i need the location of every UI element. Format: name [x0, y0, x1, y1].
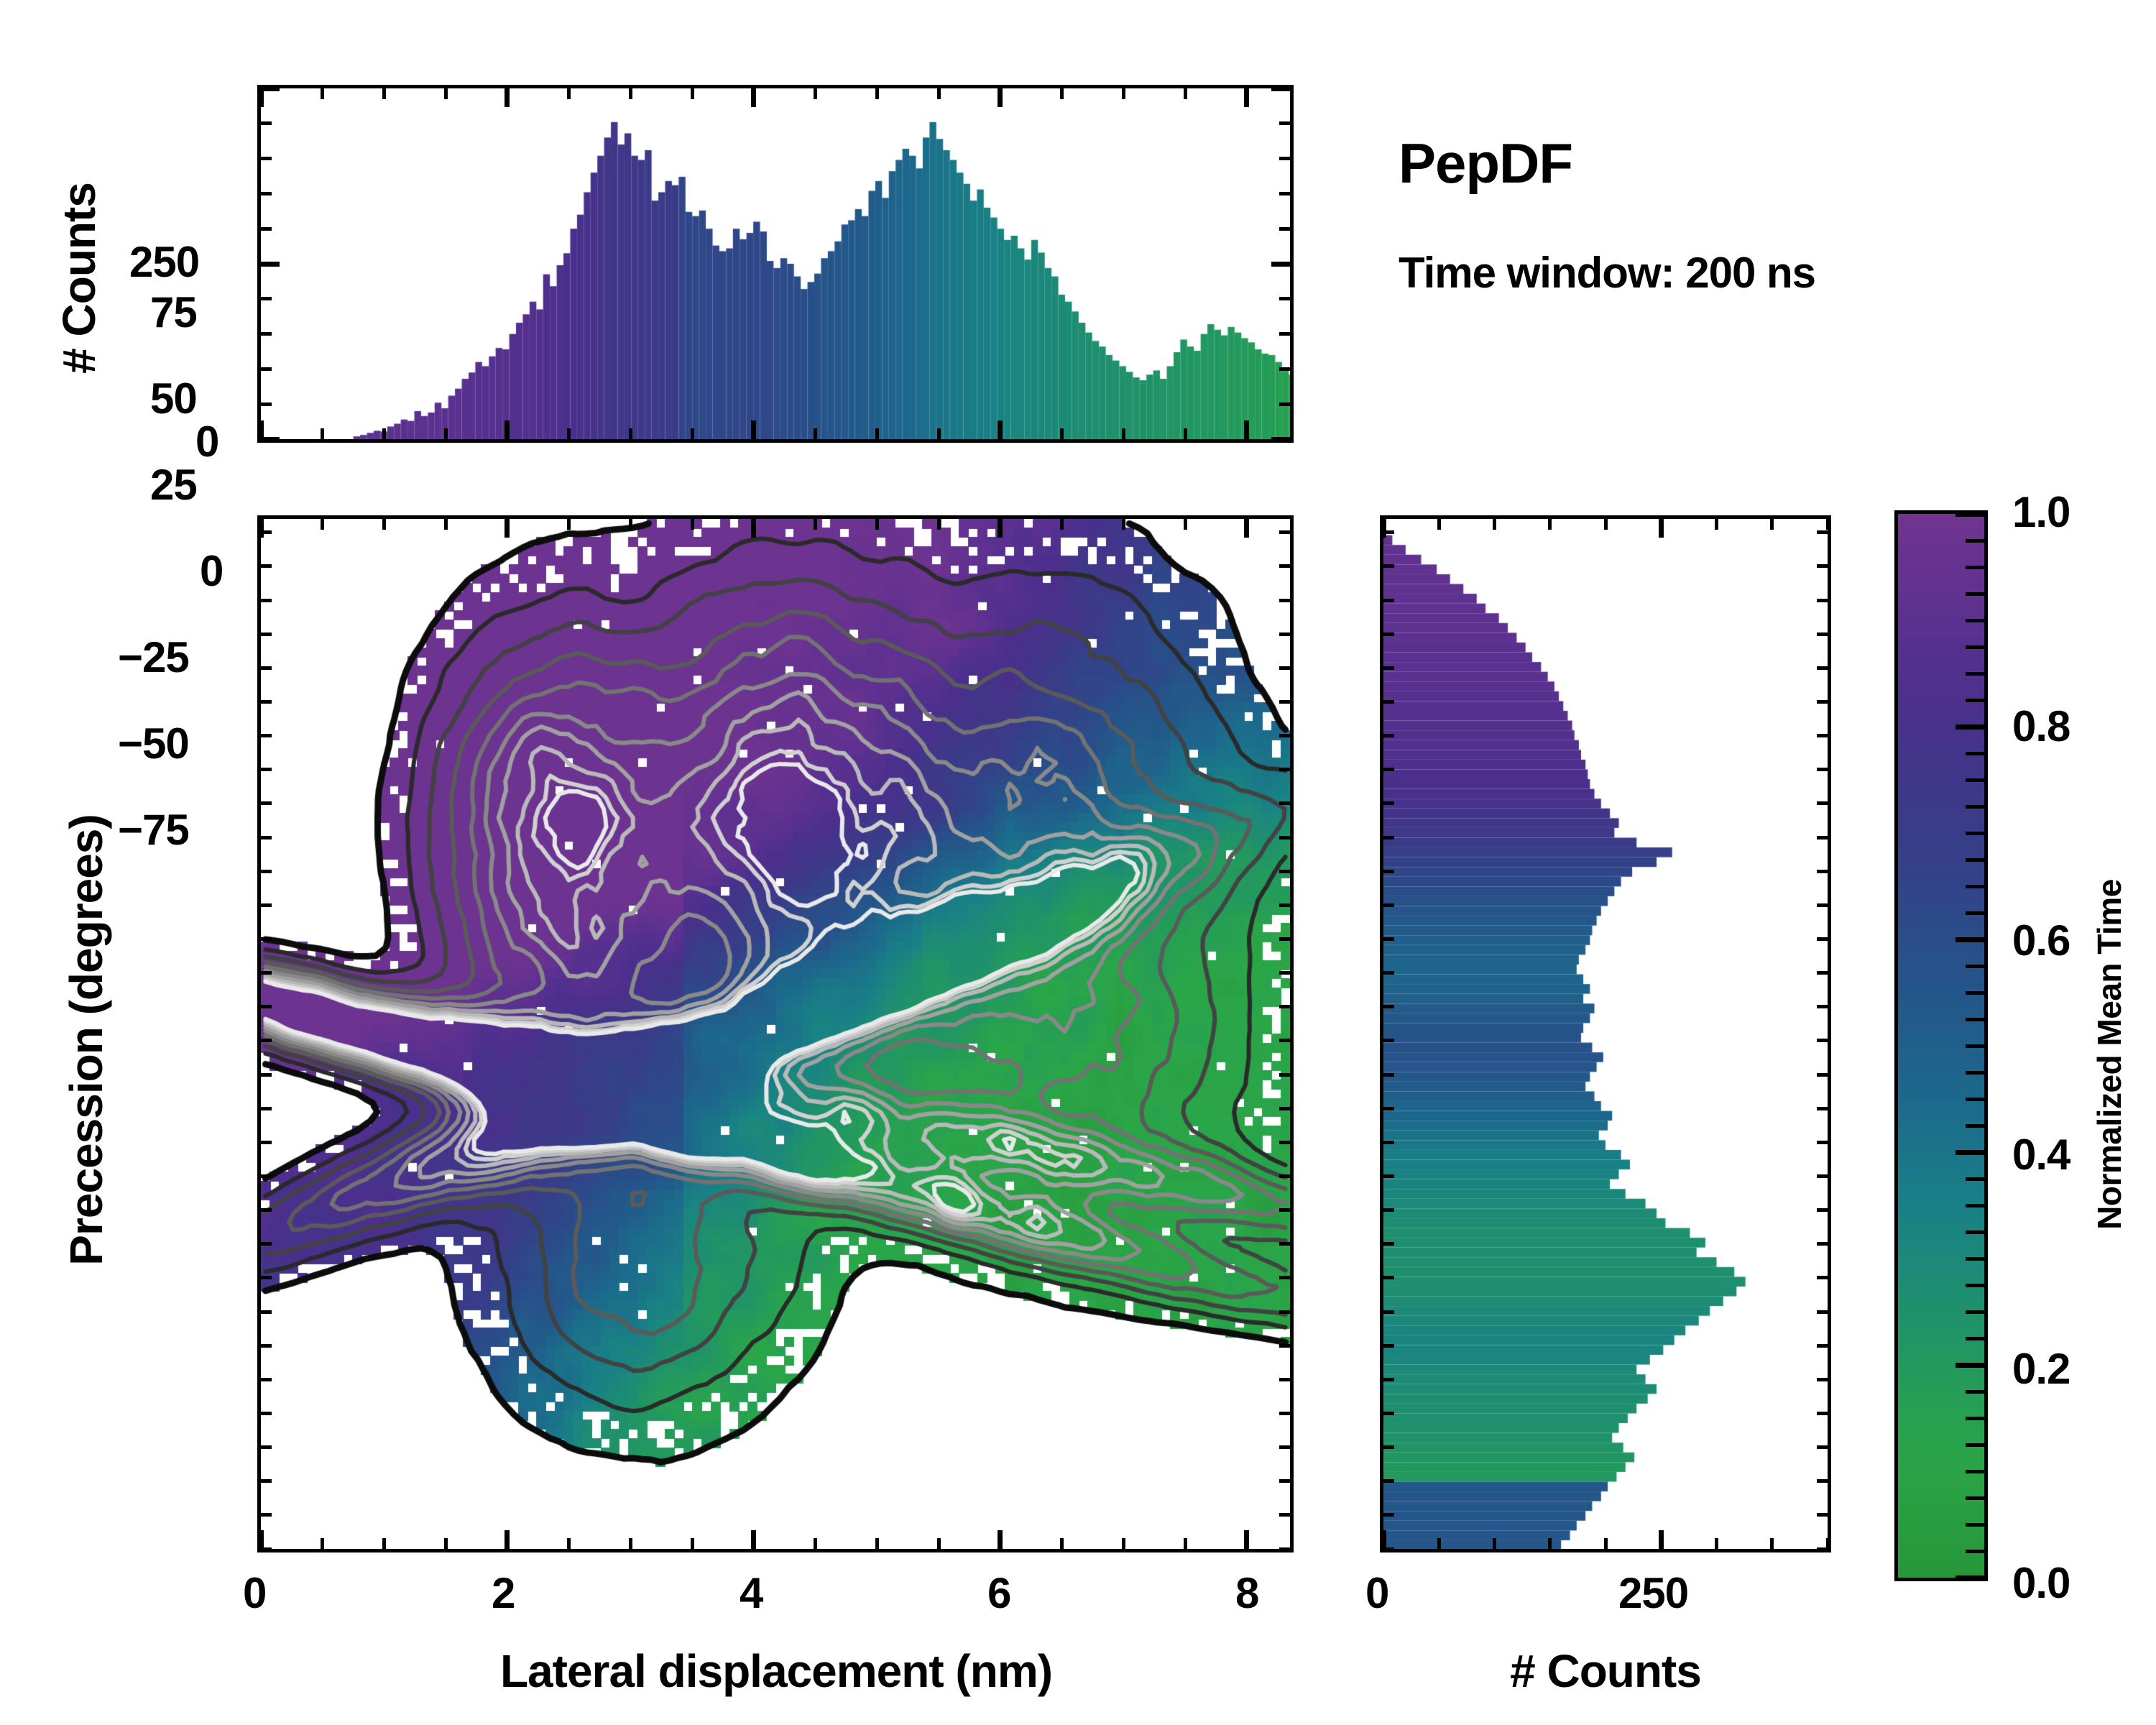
axis-tick: [1548, 1538, 1552, 1549]
axis-tick: [1381, 1530, 1386, 1549]
main-ytick-m50: −50: [118, 719, 189, 768]
axis-tick: [937, 519, 941, 530]
axis-tick: [261, 86, 280, 91]
axis-tick: [261, 121, 272, 125]
axis-tick: [691, 1538, 694, 1549]
axis-tick: [998, 1530, 1003, 1549]
axis-tick: [1955, 724, 1984, 730]
axis-tick: [1383, 1479, 1394, 1483]
axis-tick: [937, 1538, 941, 1549]
cbar-tick-0-8: 0.8: [2012, 701, 2070, 751]
axis-tick: [1817, 666, 1828, 670]
axis-tick: [1279, 157, 1290, 160]
axis-tick: [1279, 297, 1290, 300]
axis-tick: [567, 1538, 571, 1549]
axis-tick: [875, 1538, 879, 1549]
right-xtick-250: 250: [1618, 1568, 1688, 1618]
axis-tick: [1279, 1242, 1290, 1246]
right-panel-xlabel: # Counts: [1380, 1644, 1831, 1698]
axis-tick: [875, 88, 879, 99]
axis-tick: [1966, 699, 1984, 702]
axis-tick: [998, 88, 1003, 107]
figure-root: 0 250 # Counts PepDF Time window: 200 ns…: [0, 0, 2156, 1725]
axis-tick: [1817, 1310, 1828, 1314]
page-title: PepDF: [1399, 131, 1572, 196]
axis-tick: [1817, 1276, 1828, 1279]
axis-tick: [1966, 1204, 1984, 1207]
axis-tick: [1955, 1575, 1984, 1581]
axis-tick: [1279, 1039, 1290, 1042]
right-histogram-panel: [1380, 515, 1831, 1552]
axis-tick: [1279, 227, 1290, 231]
axis-tick: [1383, 1174, 1394, 1178]
axis-tick: [1383, 768, 1394, 771]
axis-tick: [1060, 519, 1064, 530]
axis-tick: [1817, 564, 1828, 568]
axis-tick: [1279, 1107, 1290, 1110]
axis-tick: [1966, 619, 1984, 622]
axis-tick: [1279, 1073, 1290, 1077]
axis-tick: [444, 519, 448, 530]
axis-tick: [1383, 1310, 1394, 1314]
axis-tick: [1279, 1412, 1290, 1415]
axis-tick: [1383, 1107, 1394, 1110]
cbar-tick-0-4: 0.4: [2012, 1130, 2070, 1179]
axis-tick: [1817, 870, 1828, 873]
axis-tick: [567, 428, 571, 439]
axis-tick: [261, 1242, 272, 1246]
axis-tick: [1966, 1071, 1984, 1075]
axis-tick: [1279, 666, 1290, 670]
top-ytick-0: 0: [195, 417, 218, 466]
axis-tick: [1817, 1005, 1828, 1008]
axis-tick: [1966, 858, 1984, 862]
axis-tick: [1966, 1523, 1984, 1527]
axis-tick: [1122, 88, 1125, 99]
axis-tick: [261, 1174, 272, 1178]
axis-tick: [751, 88, 756, 107]
axis-tick: [259, 88, 264, 107]
axis-tick: [1279, 332, 1290, 336]
axis-tick: [1383, 1208, 1394, 1212]
axis-tick: [1966, 778, 1984, 782]
axis-tick: [261, 1445, 272, 1449]
axis-tick: [261, 192, 272, 195]
axis-tick: [261, 1513, 272, 1517]
axis-tick: [1770, 1538, 1774, 1549]
axis-tick: [1966, 1337, 1984, 1340]
axis-tick: [1279, 903, 1290, 907]
axis-tick: [1817, 1513, 1828, 1517]
axis-tick: [1966, 1044, 1984, 1048]
axis-tick: [1184, 1538, 1187, 1549]
axis-tick: [1279, 870, 1290, 873]
axis-tick: [751, 1530, 756, 1549]
axis-tick: [259, 519, 264, 538]
axis-tick: [1817, 1208, 1828, 1212]
axis-tick: [261, 971, 272, 975]
axis-tick: [751, 519, 756, 538]
axis-tick: [1383, 1378, 1394, 1381]
axis-tick: [1817, 836, 1828, 839]
axis-tick: [261, 801, 272, 805]
main-xlabel: Lateral displacement (nm): [258, 1644, 1294, 1698]
axis-tick: [1060, 428, 1064, 439]
axis-tick: [814, 1538, 817, 1549]
right-histogram-canvas: [1383, 519, 1828, 1549]
axis-tick: [1383, 1412, 1394, 1415]
axis-tick: [1659, 519, 1664, 538]
axis-tick: [1817, 801, 1828, 805]
axis-tick: [261, 1378, 272, 1381]
axis-tick: [1715, 519, 1718, 530]
axis-tick: [1966, 885, 1984, 888]
axis-tick: [1817, 1242, 1828, 1246]
axis-tick: [261, 836, 272, 839]
axis-tick: [505, 420, 510, 439]
axis-tick: [1383, 836, 1394, 839]
axis-tick: [1383, 1141, 1394, 1144]
axis-tick: [1383, 870, 1394, 873]
axis-tick: [1279, 937, 1290, 941]
axis-tick: [1279, 1174, 1290, 1178]
axis-tick: [261, 157, 272, 160]
cbar-tick-0-2: 0.2: [2012, 1344, 2070, 1394]
axis-tick: [1244, 519, 1249, 538]
axis-tick: [1966, 1177, 1984, 1181]
axis-tick: [1966, 1417, 1984, 1420]
axis-tick: [1383, 666, 1394, 670]
axis-tick: [1279, 1547, 1290, 1551]
axis-tick: [259, 1530, 264, 1549]
axis-tick: [1966, 1230, 1984, 1234]
axis-tick: [875, 428, 879, 439]
axis-tick: [1955, 937, 1984, 942]
axis-tick: [444, 428, 448, 439]
axis-tick: [1383, 700, 1394, 704]
axis-tick: [1966, 1550, 1984, 1553]
axis-tick: [1966, 1018, 1984, 1021]
axis-tick: [261, 734, 272, 737]
axis-tick: [1817, 1141, 1828, 1144]
axis-tick: [1383, 1242, 1394, 1246]
axis-tick: [1383, 971, 1394, 975]
axis-tick: [1279, 1378, 1290, 1381]
axis-tick: [998, 420, 1003, 439]
axis-tick: [261, 1276, 272, 1279]
axis-tick: [1966, 1496, 1984, 1500]
top-panel-ylabel: # Counts: [52, 142, 106, 415]
axis-tick: [567, 519, 571, 530]
main-ytick-50: 50: [150, 374, 197, 423]
axis-tick: [261, 530, 272, 534]
axis-tick: [1383, 1039, 1394, 1042]
axis-tick: [814, 519, 817, 530]
axis-tick: [937, 428, 941, 439]
axis-tick: [1604, 1538, 1608, 1549]
axis-tick: [1271, 262, 1290, 267]
axis-tick: [1817, 1039, 1828, 1042]
axis-tick: [1279, 530, 1290, 534]
axis-tick: [1279, 734, 1290, 737]
axis-tick: [1966, 911, 1984, 915]
main-xtick-2: 2: [492, 1568, 515, 1618]
axis-tick: [1383, 734, 1394, 737]
main-xtick-6: 6: [987, 1568, 1010, 1618]
axis-tick: [629, 428, 632, 439]
axis-tick: [321, 519, 324, 530]
axis-tick: [1279, 1208, 1290, 1212]
axis-tick: [261, 700, 272, 704]
axis-tick: [1279, 367, 1290, 371]
axis-tick: [1817, 599, 1828, 602]
axis-tick: [1122, 428, 1125, 439]
main-ytick-m75: −75: [118, 805, 189, 855]
main-ytick-75: 75: [150, 287, 197, 337]
axis-tick: [1383, 1276, 1394, 1279]
axis-tick: [261, 1107, 272, 1110]
axis-tick: [1383, 1445, 1394, 1449]
axis-tick: [1383, 564, 1394, 568]
axis-tick: [1244, 420, 1249, 439]
axis-tick: [1817, 1107, 1828, 1110]
heatmap-canvas: [261, 519, 1290, 1549]
axis-tick: [1279, 836, 1290, 839]
axis-tick: [1279, 1276, 1290, 1279]
axis-tick: [261, 227, 272, 231]
axis-tick: [1817, 1344, 1828, 1348]
axis-tick: [691, 428, 694, 439]
axis-tick: [1966, 592, 1984, 596]
axis-tick: [1383, 801, 1394, 805]
axis-tick: [1817, 903, 1828, 907]
axis-tick: [261, 903, 272, 907]
axis-tick: [1966, 1470, 1984, 1473]
axis-tick: [1122, 519, 1125, 530]
axis-tick: [1966, 832, 1984, 835]
axis-tick: [261, 870, 272, 873]
axis-tick: [1817, 530, 1828, 534]
axis-tick: [1966, 991, 1984, 995]
axis-tick: [261, 1005, 272, 1008]
axis-tick: [1493, 519, 1496, 530]
axis-tick: [444, 1538, 448, 1549]
axis-tick: [1817, 937, 1828, 941]
axis-tick: [1659, 1530, 1664, 1549]
axis-tick: [1279, 632, 1290, 636]
axis-tick: [261, 768, 272, 771]
axis-tick: [1279, 700, 1290, 704]
axis-tick: [1279, 1310, 1290, 1314]
axis-tick: [1817, 1445, 1828, 1449]
axis-tick: [505, 1530, 510, 1549]
axis-tick: [1279, 1005, 1290, 1008]
axis-tick: [1955, 1150, 1984, 1155]
axis-tick: [814, 428, 817, 439]
axis-tick: [261, 1141, 272, 1144]
axis-tick: [1383, 1005, 1394, 1008]
axis-tick: [261, 599, 272, 602]
axis-tick: [1955, 1363, 1984, 1368]
axis-tick: [1966, 566, 1984, 569]
axis-tick: [261, 632, 272, 636]
axis-tick: [1279, 768, 1290, 771]
axis-tick: [1383, 599, 1394, 602]
axis-tick: [1279, 599, 1290, 602]
axis-tick: [1715, 1538, 1718, 1549]
axis-tick: [1966, 1124, 1984, 1128]
axis-tick: [1817, 1378, 1828, 1381]
axis-tick: [444, 88, 448, 99]
axis-tick: [382, 519, 386, 530]
axis-tick: [1966, 1390, 1984, 1394]
axis-tick: [1966, 539, 1984, 543]
cbar-tick-0-0: 0.0: [2012, 1558, 2070, 1608]
axis-tick: [1966, 1098, 1984, 1101]
top-histogram-panel: [257, 85, 1294, 443]
axis-tick: [1244, 88, 1249, 107]
axis-tick: [1060, 88, 1064, 99]
axis-tick: [1817, 971, 1828, 975]
axis-tick: [1817, 1547, 1828, 1551]
main-xtick-4: 4: [740, 1568, 763, 1618]
axis-tick: [1279, 801, 1290, 805]
axis-tick: [1383, 1547, 1394, 1551]
axis-tick: [691, 519, 694, 530]
axis-tick: [382, 428, 386, 439]
colorbar-label: Normalized Mean Time: [2090, 519, 2129, 1590]
axis-tick: [1279, 121, 1290, 125]
axis-tick: [382, 88, 386, 99]
axis-tick: [751, 420, 756, 439]
main-ytick-0: 0: [200, 546, 223, 596]
axis-tick: [1966, 1257, 1984, 1261]
axis-tick: [1279, 1141, 1290, 1144]
axis-tick: [1437, 519, 1441, 530]
axis-tick: [505, 88, 510, 107]
axis-tick: [1966, 1443, 1984, 1447]
axis-tick: [1817, 734, 1828, 737]
axis-tick: [1966, 805, 1984, 809]
axis-tick: [1279, 564, 1290, 568]
axis-tick: [261, 367, 272, 371]
axis-tick: [1383, 530, 1394, 534]
main-xtick-0: 0: [243, 1568, 266, 1618]
axis-tick: [1184, 428, 1187, 439]
axis-tick: [1604, 519, 1608, 530]
axis-tick: [1966, 752, 1984, 755]
axis-tick: [261, 1412, 272, 1415]
axis-tick: [629, 88, 632, 99]
axis-tick: [1817, 700, 1828, 704]
axis-tick: [261, 1310, 272, 1314]
axis-tick: [1966, 965, 1984, 968]
axis-tick: [1966, 1310, 1984, 1314]
axis-tick: [1244, 1530, 1249, 1549]
axis-tick: [1060, 1538, 1064, 1549]
axis-tick: [875, 519, 879, 530]
axis-tick: [321, 428, 324, 439]
axis-tick: [1383, 937, 1394, 941]
axis-tick: [261, 564, 272, 568]
axis-tick: [321, 88, 324, 99]
axis-tick: [1966, 672, 1984, 676]
axis-tick: [629, 1538, 632, 1549]
axis-tick: [1271, 437, 1290, 442]
axis-tick: [1383, 1513, 1394, 1517]
axis-tick: [1817, 632, 1828, 636]
axis-tick: [382, 1538, 386, 1549]
axis-tick: [814, 88, 817, 99]
axis-tick: [1437, 1538, 1441, 1549]
cbar-tick-0-6: 0.6: [2012, 916, 2070, 965]
axis-tick: [261, 1547, 272, 1551]
main-ytick-25: 25: [150, 460, 197, 510]
axis-tick: [261, 1208, 272, 1212]
axis-tick: [1817, 1412, 1828, 1415]
axis-tick: [998, 519, 1003, 538]
axis-tick: [261, 666, 272, 670]
axis-tick: [1279, 1513, 1290, 1517]
top-histogram-canvas: [261, 88, 1290, 439]
axis-tick: [321, 1538, 324, 1549]
axis-tick: [1184, 519, 1187, 530]
axis-tick: [1383, 903, 1394, 907]
axis-tick: [1383, 1344, 1394, 1348]
axis-tick: [1279, 1445, 1290, 1449]
main-ytick-m25: −25: [118, 632, 189, 682]
axis-tick: [1279, 402, 1290, 406]
main-xtick-8: 8: [1235, 1568, 1258, 1618]
axis-tick: [1817, 1479, 1828, 1483]
axis-tick: [1279, 1344, 1290, 1348]
main-ylabel: Precession (degrees): [60, 523, 113, 1558]
right-xtick-0: 0: [1365, 1568, 1388, 1618]
axis-tick: [261, 332, 272, 336]
axis-tick: [261, 1344, 272, 1348]
axis-tick: [1548, 519, 1552, 530]
main-heatmap-panel: [257, 515, 1294, 1552]
axis-tick: [1955, 512, 1984, 517]
axis-tick: [1770, 519, 1774, 530]
axis-tick: [261, 402, 272, 406]
axis-tick: [1279, 1479, 1290, 1483]
axis-tick: [1279, 192, 1290, 195]
axis-tick: [261, 437, 280, 442]
top-ytick-250: 250: [129, 237, 199, 287]
axis-tick: [1271, 86, 1290, 91]
axis-tick: [261, 937, 272, 941]
axis-tick: [1817, 1174, 1828, 1178]
axis-tick: [261, 297, 272, 300]
axis-tick: [1817, 1073, 1828, 1077]
axis-tick: [261, 262, 280, 267]
axis-tick: [567, 88, 571, 99]
axis-tick: [937, 88, 941, 99]
axis-tick: [629, 519, 632, 530]
axis-tick: [1826, 519, 1830, 530]
axis-tick: [1383, 1073, 1394, 1077]
axis-tick: [1966, 645, 1984, 649]
axis-tick: [261, 1073, 272, 1077]
axis-tick: [1381, 519, 1386, 538]
axis-tick: [691, 88, 694, 99]
axis-tick: [1184, 88, 1187, 99]
axis-tick: [261, 1479, 272, 1483]
axis-tick: [1966, 1284, 1984, 1287]
axis-tick: [1817, 768, 1828, 771]
axis-tick: [1122, 1538, 1125, 1549]
